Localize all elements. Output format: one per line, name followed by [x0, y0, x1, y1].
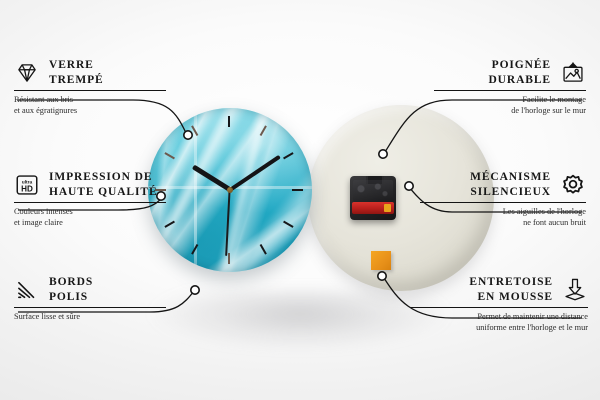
feature-title: MÉCANISME SILENCIEUX	[470, 170, 551, 199]
feature-rule	[420, 202, 586, 203]
foam-spacer-icon	[562, 277, 588, 303]
feature-entretoise-en-mousse: ENTRETOISE EN MOUSSE Permet de maintenir…	[410, 275, 588, 333]
movement-plate	[353, 180, 393, 202]
battery	[352, 202, 394, 214]
feature-rule	[14, 202, 166, 203]
feature-head: ultra HD IMPRESSION DE HAUTE QUALITÉ	[14, 170, 166, 199]
feature-title: VERRE TREMPÉ	[49, 58, 104, 87]
feature-desc: Permet de maintenir une distance uniform…	[410, 311, 588, 333]
feature-title: BORDS POLIS	[49, 275, 93, 304]
diamond-icon	[14, 60, 40, 86]
feature-mecanisme-silencieux: MÉCANISME SILENCIEUX Les aiguilles de l'…	[420, 170, 586, 228]
quartz-movement	[350, 176, 396, 220]
feature-title: ENTRETOISE EN MOUSSE	[469, 275, 553, 304]
feature-desc: Facilite le montage de l'horloge sur le …	[434, 94, 586, 116]
feature-head: VERRE TREMPÉ	[14, 58, 166, 87]
feature-bords-polis: BORDS POLIS Surface lisse et sûre	[14, 275, 166, 322]
polished-edges-icon	[14, 277, 40, 303]
feature-desc: Surface lisse et sûre	[14, 311, 166, 322]
product-infographic: VERRE TREMPÉ Résistant aux bris et aux é…	[0, 0, 600, 400]
clock-rim	[148, 108, 312, 272]
feature-impression-haute-qualite: ultra HD IMPRESSION DE HAUTE QUALITÉ Cou…	[14, 170, 166, 228]
foam-spacer	[371, 251, 391, 270]
feature-rule	[434, 90, 586, 91]
wall-clock	[148, 108, 312, 272]
feature-rule	[14, 90, 166, 91]
svg-text:HD: HD	[21, 184, 33, 193]
feature-verre-trempe: VERRE TREMPÉ Résistant aux bris et aux é…	[14, 58, 166, 116]
floor-shadow	[150, 290, 450, 350]
feature-desc: Les aiguilles de l'horloge ne font aucun…	[420, 206, 586, 228]
feature-head: ENTRETOISE EN MOUSSE	[410, 275, 588, 304]
feature-desc: Résistant aux bris et aux égratignures	[14, 94, 166, 116]
feature-title: IMPRESSION DE HAUTE QUALITÉ	[49, 170, 158, 199]
gear-icon	[560, 172, 586, 198]
feature-desc: Couleurs intenses et image claire	[14, 206, 166, 228]
picture-hanger-icon	[560, 60, 586, 86]
feature-head: BORDS POLIS	[14, 275, 166, 304]
feature-head: MÉCANISME SILENCIEUX	[420, 170, 586, 199]
feature-poignee-durable: POIGNÉE DURABLE Facilite le montage de l…	[434, 58, 586, 116]
feature-rule	[410, 307, 588, 308]
feature-head: POIGNÉE DURABLE	[434, 58, 586, 87]
feature-rule	[14, 307, 166, 308]
feature-title: POIGNÉE DURABLE	[488, 58, 551, 87]
ultra-hd-icon: ultra HD	[14, 172, 40, 198]
